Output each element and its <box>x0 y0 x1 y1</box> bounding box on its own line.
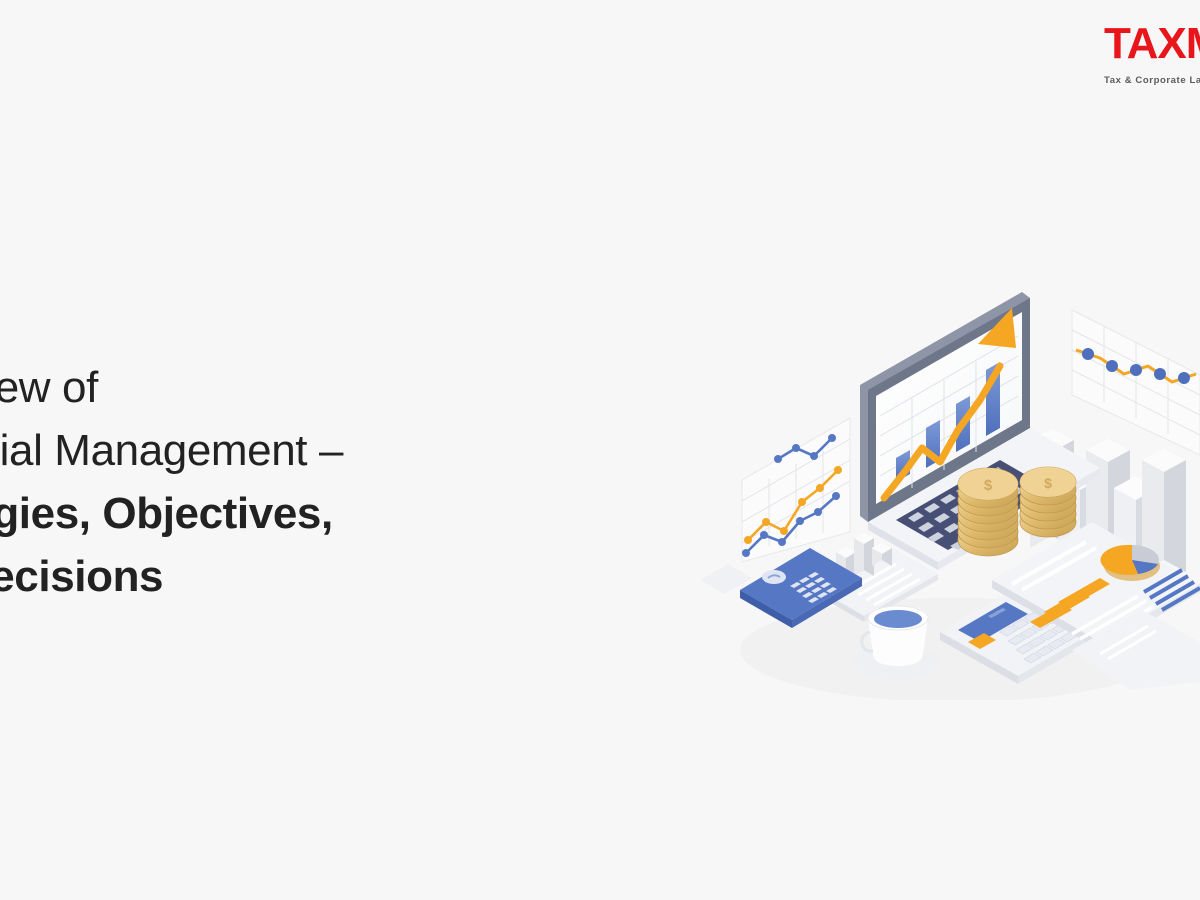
svg-text:$: $ <box>1044 475 1052 491</box>
line-chart-panel-left <box>742 418 850 562</box>
page-title-lines: Overview of Financial Management – Strat… <box>0 356 600 608</box>
logo[interactable]: TAXMANN Tax & Corporate Laws of India <box>1104 22 1200 100</box>
title-line-2: Financial Management – <box>0 419 600 482</box>
page-title: Overview of Financial Management – Strat… <box>0 356 600 656</box>
isometric-illustration-svg: $ $ <box>700 250 1200 700</box>
tablet-round-icon <box>762 570 786 584</box>
logo-tagline: Tax & Corporate Laws of India <box>1104 75 1200 86</box>
line-chart-panel-right <box>1072 310 1200 455</box>
coin-stack-back: $ <box>1020 467 1076 537</box>
title-line-3: Strategies, Objectives, <box>0 482 600 545</box>
svg-text:$: $ <box>984 477 993 494</box>
mug-liquid <box>874 610 922 628</box>
title-line-1: Overview of <box>0 356 600 419</box>
coin-stack-front: $ <box>958 468 1018 556</box>
title-line-4: and Decisions <box>0 545 600 608</box>
logo-inner: TAXMANN Tax & Corporate Laws of India <box>1104 22 1200 86</box>
hero-illustration: $ $ <box>700 250 1200 700</box>
logo-wordmark: TAXMANN <box>1104 22 1200 66</box>
